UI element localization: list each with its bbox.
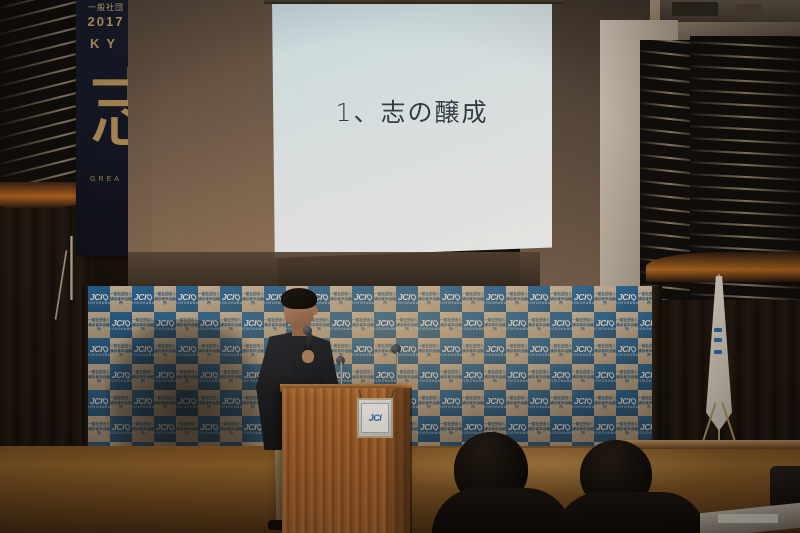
backdrop-tile: JCIYOKOHAMA: [220, 338, 242, 364]
backdrop-tile: JCIYOKOHAMA: [110, 416, 132, 442]
jci-logo: JCI: [178, 345, 196, 354]
backdrop-org-jp-line2: 横浜青年会議所: [506, 297, 528, 307]
jci-logo-text: JCI: [640, 371, 652, 380]
backdrop-tile: 一般社団法人横浜青年会議所: [484, 364, 506, 390]
backdrop-org-jp-line2: 横浜青年会議所: [572, 427, 594, 437]
location-pin-icon: [102, 345, 110, 353]
backdrop-tile: JCIYOKOHAMA: [154, 364, 176, 390]
jci-logo: JCI: [200, 423, 218, 432]
jci-chapter-text: YOKOHAMA: [572, 406, 594, 409]
backdrop-org-jp-line2: 横浜青年会議所: [616, 323, 638, 333]
backdrop-tile: 一般社団法人横浜青年会議所: [88, 312, 110, 338]
ceiling-vent: [736, 4, 762, 14]
backdrop-tile: 一般社団法人横浜青年会議所: [462, 286, 484, 312]
location-pin-icon: [520, 423, 528, 431]
location-pin-icon: [498, 397, 506, 405]
backdrop-tile: 一般社団法人横浜青年会議所: [176, 312, 198, 338]
jci-logo-text: JCI: [178, 293, 190, 302]
jci-logo-text: JCI: [200, 423, 212, 432]
jci-logo: JCI: [134, 397, 152, 406]
jci-chapter-text: YOKOHAMA: [154, 432, 176, 435]
location-pin-icon: [498, 345, 506, 353]
jci-logo-text: JCI: [486, 345, 498, 354]
location-pin-icon: [630, 397, 638, 405]
jci-logo-text: JCI: [464, 319, 476, 328]
backdrop-tile: JCIYOKOHAMA: [594, 312, 616, 338]
backdrop-tile: JCIYOKOHAMA: [506, 364, 528, 390]
backdrop-org-jp-line2: 横浜青年会議所: [198, 349, 220, 359]
slat-line: [690, 197, 800, 205]
location-pin-icon: [564, 423, 572, 431]
jci-logo-text: JCI: [90, 293, 102, 302]
jci-chapter-text: YOKOHAMA: [110, 380, 132, 383]
backdrop-tile: JCIYOKOHAMA: [88, 286, 110, 312]
location-pin-icon: [454, 293, 462, 301]
jci-chapter-text: YOKOHAMA: [198, 328, 220, 331]
location-pin-icon: [102, 397, 110, 405]
jci-chapter-text: YOKOHAMA: [110, 432, 132, 435]
jci-chapter-text: YOKOHAMA: [484, 302, 506, 305]
backdrop-tile: 一般社団法人横浜青年会議所: [506, 390, 528, 416]
slat-line: [690, 77, 800, 85]
jci-chapter-text: YOKOHAMA: [396, 302, 418, 305]
location-pin-icon: [366, 293, 374, 301]
backdrop-tile: JCIYOKOHAMA: [572, 286, 594, 312]
projection-screen: 1、志の醸成: [272, 0, 552, 258]
jci-logo-text: JCI: [200, 371, 212, 380]
jci-logo-text: JCI: [222, 345, 234, 354]
location-pin-icon: [432, 371, 440, 379]
backdrop-org-jp-line2: 横浜青年会議所: [440, 375, 462, 385]
backdrop-tile: JCIYOKOHAMA: [198, 364, 220, 390]
backdrop-tile: JCIYOKOHAMA: [484, 338, 506, 364]
jci-logo: JCI: [552, 319, 570, 328]
jci-logo-text: JCI: [178, 397, 190, 406]
location-pin-icon: [190, 293, 198, 301]
backdrop-tile: JCIYOKOHAMA: [616, 286, 638, 312]
jci-chapter-text: YOKOHAMA: [528, 302, 550, 305]
jci-logo: JCI: [442, 345, 460, 354]
location-pin-icon: [586, 397, 594, 405]
jci-logo: JCI: [112, 371, 130, 380]
location-pin-icon: [432, 423, 440, 431]
backdrop-org-jp-line2: 横浜青年会議所: [176, 375, 198, 385]
jci-chapter-text: YOKOHAMA: [198, 380, 220, 383]
slat-line: [690, 113, 800, 121]
backdrop-tile: JCIYOKOHAMA: [572, 338, 594, 364]
backdrop-tile: JCIYOKOHAMA: [220, 390, 242, 416]
backdrop-tile: 一般社団法人横浜青年会議所: [462, 338, 484, 364]
jci-logo-text: JCI: [618, 293, 630, 302]
backdrop-tile: 一般社団法人横浜青年会議所: [418, 286, 440, 312]
jci-logo-text: JCI: [134, 397, 146, 406]
backdrop-org-jp-line2: 横浜青年会議所: [594, 401, 616, 411]
backdrop-tile: 一般社団法人横浜青年会議所: [572, 364, 594, 390]
backdrop-org-jp-line2: 横浜青年会議所: [572, 323, 594, 333]
ceiling-duct: [672, 2, 718, 16]
location-pin-icon: [190, 397, 198, 405]
jci-logo-text: JCI: [618, 397, 630, 406]
backdrop-org-jp-line2: 横浜青年会議所: [220, 375, 242, 385]
speaker-hair: [281, 288, 317, 309]
jci-chapter-text: YOKOHAMA: [88, 354, 110, 357]
location-pin-icon: [498, 293, 506, 301]
jci-logo-text: JCI: [464, 371, 476, 380]
jci-chapter-text: YOKOHAMA: [528, 354, 550, 357]
backdrop-tile: 一般社団法人横浜青年会議所: [550, 390, 572, 416]
jci-chapter-text: YOKOHAMA: [484, 406, 506, 409]
jci-logo: JCI: [134, 293, 152, 302]
backdrop-tile: 一般社団法人横浜青年会議所: [594, 390, 616, 416]
jci-logo-text: JCI: [156, 319, 168, 328]
backdrop-org-jp-line2: 横浜青年会議所: [220, 323, 242, 333]
jci-logo: JCI: [420, 423, 438, 432]
location-pin-icon: [608, 371, 616, 379]
jci-logo: JCI: [156, 371, 174, 380]
backdrop-org-jp-line2: 横浜青年会議所: [110, 401, 132, 411]
jci-chapter-text: YOKOHAMA: [550, 328, 572, 331]
backdrop-tile: 一般社団法人横浜青年会議所: [418, 338, 440, 364]
backdrop-tile: JCIYOKOHAMA: [110, 312, 132, 338]
location-pin-icon: [608, 423, 616, 431]
location-pin-icon: [366, 345, 374, 353]
location-pin-icon: [388, 319, 396, 327]
jci-logo-text: JCI: [640, 423, 652, 432]
backdrop-tile: 一般社団法人横浜青年会議所: [132, 312, 154, 338]
jci-logo-text: JCI: [442, 397, 454, 406]
backdrop-tile: JCIYOKOHAMA: [462, 364, 484, 390]
location-pin-icon: [454, 397, 462, 405]
jci-chapter-text: YOKOHAMA: [506, 380, 528, 383]
backdrop-tile: 一般社団法人横浜青年会議所: [88, 416, 110, 442]
jci-chapter-text: YOKOHAMA: [176, 354, 198, 357]
backdrop-tile: 一般社団法人横浜青年会議所: [132, 416, 154, 442]
backdrop-tile: JCIYOKOHAMA: [88, 338, 110, 364]
backdrop-org-jp-line2: 横浜青年会議所: [88, 375, 110, 385]
slat-line: [690, 101, 800, 109]
location-pin-icon: [234, 293, 242, 301]
backdrop-org-jp-line2: 横浜青年会議所: [220, 427, 242, 437]
backdrop-tile: JCIYOKOHAMA: [462, 312, 484, 338]
jci-chapter-text: YOKOHAMA: [616, 302, 638, 305]
jci-logo: JCI: [464, 423, 482, 432]
jci-chapter-text: YOKOHAMA: [88, 302, 110, 305]
jci-logo-text: JCI: [640, 319, 652, 328]
jci-logo-text: JCI: [530, 397, 542, 406]
jci-logo-text: JCI: [112, 319, 124, 328]
jci-chapter-text: YOKOHAMA: [594, 380, 616, 383]
paper-on-table: [718, 514, 778, 523]
location-pin-icon: [520, 371, 528, 379]
jci-logo: JCI: [90, 397, 108, 406]
location-pin-icon: [124, 371, 132, 379]
location-pin-icon: [608, 319, 616, 327]
jci-logo-text: JCI: [134, 345, 146, 354]
backdrop-tile: JCIYOKOHAMA: [616, 390, 638, 416]
slat-line: [690, 53, 800, 61]
jci-logo: JCI: [376, 371, 394, 380]
jci-logo: JCI: [574, 293, 592, 302]
backdrop-tile: JCIYOKOHAMA: [572, 390, 594, 416]
location-pin-icon: [124, 423, 132, 431]
backdrop-tile: 一般社団法人横浜青年会議所: [198, 338, 220, 364]
backdrop-org-jp-line2: 横浜青年会議所: [550, 297, 572, 307]
jci-chapter-text: YOKOHAMA: [616, 406, 638, 409]
location-pin-icon: [586, 345, 594, 353]
backdrop-tile: 一般社団法人横浜青年会議所: [220, 364, 242, 390]
screen-top-frame: [264, 0, 564, 4]
flag-emblem-mark: [714, 338, 722, 342]
jci-chapter-text: YOKOHAMA: [198, 432, 220, 435]
jci-logo: JCI: [508, 423, 526, 432]
backdrop-org-jp-line2: 横浜青年会議所: [88, 323, 110, 333]
location-pin-icon: [476, 423, 484, 431]
backdrop-tile: 一般社団法人横浜青年会議所: [594, 286, 616, 312]
backdrop-org-jp-line2: 横浜青年会議所: [418, 401, 440, 411]
audience-shoulders: [432, 488, 572, 533]
backdrop-tile: 一般社団法人横浜青年会議所: [220, 312, 242, 338]
jci-chapter-text: YOKOHAMA: [594, 432, 616, 435]
location-pin-icon: [168, 371, 176, 379]
backdrop-tile: 一般社団法人横浜青年会議所: [88, 364, 110, 390]
backdrop-tile: JCIYOKOHAMA: [176, 390, 198, 416]
jci-logo: JCI: [398, 293, 416, 302]
backdrop-tile: 一般社団法人横浜青年会議所: [154, 286, 176, 312]
jci-chapter-text: YOKOHAMA: [154, 328, 176, 331]
jci-logo-text: JCI: [508, 371, 520, 380]
backdrop-tile: 一般社団法人横浜青年会議所: [132, 364, 154, 390]
jci-chapter-text: YOKOHAMA: [572, 354, 594, 357]
jci-logo: JCI: [178, 293, 196, 302]
jci-logo: JCI: [90, 293, 108, 302]
location-pin-icon: [146, 345, 154, 353]
location-pin-icon: [542, 293, 550, 301]
backdrop-tile: 一般社団法人横浜青年会議所: [616, 416, 638, 442]
backdrop-org-jp-line2: 横浜青年会議所: [176, 427, 198, 437]
backdrop-org-jp-line2: 横浜青年会議所: [462, 297, 484, 307]
jci-logo: JCI: [508, 319, 526, 328]
backdrop-tile: 一般社団法人横浜青年会議所: [374, 286, 396, 312]
backdrop-tile: 一般社団法人横浜青年会議所: [418, 390, 440, 416]
backdrop-tile: 一般社団法人横浜青年会議所: [110, 286, 132, 312]
jci-logo-text: JCI: [200, 319, 212, 328]
jci-logo-text: JCI: [442, 345, 454, 354]
jci-chapter-text: YOKOHAMA: [88, 406, 110, 409]
location-pin-icon: [146, 293, 154, 301]
banner-support-pole: [70, 236, 73, 300]
slat-line: [690, 89, 800, 97]
jci-logo-text: JCI: [486, 397, 498, 406]
backdrop-tile: 一般社団法人横浜青年会議所: [176, 416, 198, 442]
jci-chapter-text: YOKOHAMA: [594, 328, 616, 331]
backdrop-tile: JCIYOKOHAMA: [220, 286, 242, 312]
backdrop-tile: 一般社団法人横浜青年会議所: [440, 364, 462, 390]
backdrop-tile: 一般社団法人横浜青年会議所: [198, 286, 220, 312]
jci-chapter-text: YOKOHAMA: [572, 302, 594, 305]
backdrop-org-jp-line2: 横浜青年会議所: [418, 297, 440, 307]
backdrop-tile: 一般社団法人横浜青年会議所: [110, 338, 132, 364]
jci-logo: JCI: [530, 345, 548, 354]
jci-logo-text: JCI: [574, 345, 586, 354]
slat-line: [690, 161, 800, 169]
backdrop-tile: 一般社団法人横浜青年会議所: [396, 312, 418, 338]
handheld-microphone-head: [303, 326, 312, 335]
jci-chapter-text: YOKOHAMA: [374, 380, 396, 383]
jci-logo-text: JCI: [442, 293, 454, 302]
jci-chapter-text: YOKOHAMA: [440, 406, 462, 409]
backdrop-tile: 一般社団法人横浜青年会議所: [440, 312, 462, 338]
jci-chapter-text: YOKOHAMA: [462, 380, 484, 383]
backdrop-org-jp-line2: 横浜青年会議所: [132, 323, 154, 333]
backdrop-org-jp-line2: 横浜青年会議所: [594, 297, 616, 307]
backdrop-org-jp-line2: 横浜青年会議所: [528, 323, 550, 333]
backdrop-tile: JCIYOKOHAMA: [132, 286, 154, 312]
backdrop-tile: JCIYOKOHAMA: [198, 312, 220, 338]
slide-heading-text: 1、志の醸成: [272, 93, 552, 129]
backdrop-org-jp-line2: 横浜青年会議所: [484, 323, 506, 333]
jci-chapter-text: YOKOHAMA: [418, 328, 440, 331]
speaker-hand: [302, 350, 314, 363]
banner-org-text: 一般社団: [76, 2, 136, 13]
backdrop-tile: JCIYOKOHAMA: [132, 390, 154, 416]
backdrop-tile: 一般社団法人横浜青年会議所: [550, 338, 572, 364]
jci-logo: JCI: [618, 345, 636, 354]
jci-chapter-text: YOKOHAMA: [440, 302, 462, 305]
jci-logo: JCI: [574, 397, 592, 406]
slat-line: [690, 149, 800, 157]
audience-member-silhouette: [556, 440, 706, 533]
jci-logo-text: JCI: [596, 371, 608, 380]
location-pin-icon: [234, 345, 242, 353]
backdrop-org-jp-line2: 横浜青年会議所: [154, 349, 176, 359]
jci-logo: JCI: [618, 293, 636, 302]
jci-logo: JCI: [420, 319, 438, 328]
backdrop-tile: JCIYOKOHAMA: [528, 390, 550, 416]
backdrop-tile: JCIYOKOHAMA: [88, 390, 110, 416]
backdrop-org-jp-line2: 横浜青年会議所: [616, 375, 638, 385]
jci-chapter-text: YOKOHAMA: [220, 406, 242, 409]
jci-logo-text: JCI: [530, 345, 542, 354]
jci-logo: JCI: [156, 319, 174, 328]
jci-chapter-text: YOKOHAMA: [176, 302, 198, 305]
jci-logo-text: JCI: [552, 423, 564, 432]
location-pin-icon: [630, 293, 638, 301]
slat-line: [690, 125, 800, 133]
jci-logo-text: JCI: [90, 397, 102, 406]
backdrop-org-jp-line2: 横浜青年会議所: [198, 401, 220, 411]
backdrop-org-jp-line2: 横浜青年会議所: [418, 349, 440, 359]
jci-logo: JCI: [486, 345, 504, 354]
slat-line: [690, 233, 800, 241]
slat-line: [690, 137, 800, 145]
location-pin-icon: [410, 293, 418, 301]
jci-logo-text: JCI: [486, 293, 498, 302]
backdrop-tile: 一般社団法人横浜青年会議所: [110, 390, 132, 416]
backdrop-org-jp-line2: 横浜青年会議所: [550, 401, 572, 411]
jci-logo-text: JCI: [376, 319, 388, 328]
backdrop-org-jp-line2: 横浜青年会議所: [616, 427, 638, 437]
jci-logo-text: JCI: [420, 423, 432, 432]
jci-logo-text: JCI: [156, 371, 168, 380]
backdrop-org-jp-line2: 横浜青年会議所: [132, 375, 154, 385]
backdrop-org-jp-line2: 横浜青年会議所: [154, 297, 176, 307]
backdrop-tile: JCIYOKOHAMA: [132, 338, 154, 364]
location-pin-icon: [454, 345, 462, 353]
location-pin-icon: [630, 345, 638, 353]
jci-logo: JCI: [200, 319, 218, 328]
jci-chapter-text: YOKOHAMA: [132, 354, 154, 357]
backdrop-tile: JCIYOKOHAMA: [506, 312, 528, 338]
slat-line: [690, 173, 800, 181]
jci-chapter-text: YOKOHAMA: [110, 328, 132, 331]
backdrop-tile: 一般社団法人横浜青年会議所: [616, 364, 638, 390]
backdrop-tile: JCIYOKOHAMA: [594, 364, 616, 390]
backdrop-tile: 一般社団法人横浜青年会議所: [572, 312, 594, 338]
ceremonial-flag-on-stand: [706, 276, 732, 444]
backdrop-tile: 一般社団法人横浜青年会議所: [528, 312, 550, 338]
projection-screen-area: 1、志の醸成: [128, 0, 540, 268]
backdrop-org-jp-line2: 横浜青年会議所: [506, 349, 528, 359]
jci-logo-text: JCI: [596, 319, 608, 328]
backdrop-tile: JCIYOKOHAMA: [528, 286, 550, 312]
jci-logo-text: JCI: [90, 345, 102, 354]
backdrop-org-jp-line2: 横浜青年会議所: [396, 323, 418, 333]
location-pin-icon: [542, 397, 550, 405]
jci-logo-text: JCI: [530, 293, 542, 302]
jci-logo: JCI: [178, 397, 196, 406]
jci-chapter-text: YOKOHAMA: [154, 380, 176, 383]
foreground-dark-object: [770, 466, 800, 508]
jci-logo-text: JCI: [222, 397, 234, 406]
backdrop-tile: JCIYOKOHAMA: [418, 312, 440, 338]
location-pin-icon: [586, 293, 594, 301]
backdrop-tile: 一般社団法人横浜青年会議所: [484, 312, 506, 338]
location-pin-icon: [564, 319, 572, 327]
speaker-ear: [312, 306, 318, 315]
backdrop-tile: JCIYOKOHAMA: [418, 364, 440, 390]
flag-emblem-mark: [714, 350, 722, 354]
jci-logo-text: JCI: [552, 371, 564, 380]
backdrop-tile: JCIYOKOHAMA: [154, 416, 176, 442]
backdrop-tile: 一般社団法人横浜青年会議所: [550, 286, 572, 312]
location-pin-icon: [388, 371, 396, 379]
jci-chapter-text: YOKOHAMA: [132, 406, 154, 409]
location-pin-icon: [212, 423, 220, 431]
jci-logo: JCI: [508, 371, 526, 380]
backdrop-tile: 一般社団法人横浜青年会議所: [462, 390, 484, 416]
plaque-jci-logo-text: JCI: [369, 413, 382, 423]
jci-chapter-text: YOKOHAMA: [616, 354, 638, 357]
backdrop-tile: JCIYOKOHAMA: [176, 338, 198, 364]
jci-logo: JCI: [134, 345, 152, 354]
banner-tagline-text: GREA: [76, 176, 136, 183]
backdrop-org-jp-line2: 横浜青年会議所: [154, 401, 176, 411]
location-pin-icon: [410, 345, 418, 353]
jci-logo: JCI: [486, 293, 504, 302]
flag-emblem-mark: [714, 328, 722, 332]
backdrop-tile: 一般社団法人横浜青年会議所: [198, 390, 220, 416]
jci-logo: JCI: [156, 423, 174, 432]
jci-chapter-text: YOKOHAMA: [440, 354, 462, 357]
jci-chapter-text: YOKOHAMA: [462, 328, 484, 331]
backdrop-tile: JCIYOKOHAMA: [374, 312, 396, 338]
location-pin-icon: [564, 371, 572, 379]
jci-logo: JCI: [222, 293, 240, 302]
jci-logo: JCI: [596, 319, 614, 328]
jci-logo: JCI: [420, 371, 438, 380]
backdrop-tile: 一般社団法人横浜青年会議所: [616, 312, 638, 338]
photo-scene: 一般社団 2017 KY 志 GREA 1、志の醸成 JCIYOKOHAMA一般…: [0, 0, 800, 533]
